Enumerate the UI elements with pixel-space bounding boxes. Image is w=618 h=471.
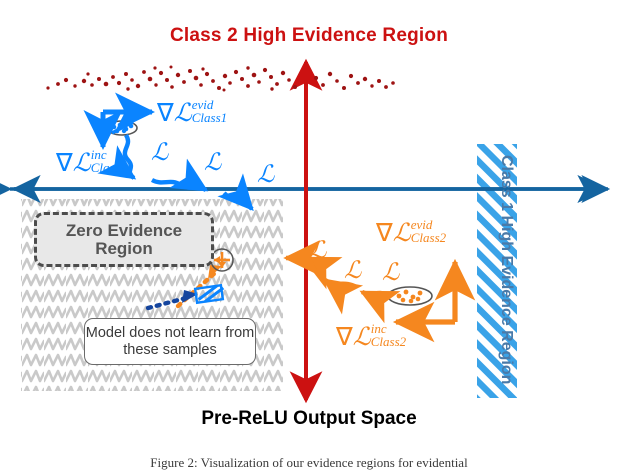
loss-symbol-blue-2: ℒ (204, 148, 221, 177)
loss-symbol-blue-3: ℒ (257, 160, 274, 189)
class2-sample-cloud (46, 66, 394, 92)
label-grad-inc-class1: ∇ℒincClass1 (56, 148, 126, 178)
grad-inc-class1-subsup: incClass1 (91, 148, 126, 174)
title-class2-region: Class 2 High Evidence Region (0, 25, 618, 47)
grad-inc-class2-subsup: incClass2 (371, 322, 406, 348)
label-class1-high-evidence-region: Class 1 High Evidence Region (487, 155, 515, 395)
loss-symbol-orange-1: ℒ (309, 236, 326, 265)
loss-symbol: ℒ (393, 220, 411, 247)
blue-gradient-path (125, 135, 252, 209)
model-does-not-learn-note: Model does not learn from these samples (84, 318, 256, 365)
loss-symbol-blue-1: ℒ (151, 138, 168, 167)
nabla-icon: ∇ (56, 150, 73, 177)
orange-gradient-path (286, 258, 388, 295)
title-prerelu-output-space: Pre-ReLU Output Space (0, 408, 618, 430)
label-grad-inc-class2: ∇ℒincClass2 (336, 322, 406, 352)
orange-sample-group (388, 287, 432, 305)
loss-symbol: ℒ (73, 150, 91, 177)
loss-symbol: ℒ (174, 100, 192, 127)
label-grad-evid-class1: ∇ℒevidClass1 (157, 98, 227, 128)
loss-symbol-orange-3: ℒ (382, 258, 399, 287)
zero-evidence-region-box: Zero Evidence Region (34, 212, 214, 267)
nabla-icon: ∇ (376, 220, 393, 247)
zero-region-sample (211, 249, 233, 271)
blue-sample-group (107, 121, 137, 135)
nabla-icon: ∇ (336, 324, 353, 351)
figure-canvas: Class 2 High Evidence Region Pre-ReLU Ou… (0, 0, 618, 470)
nabla-icon: ∇ (157, 100, 174, 127)
grad-evid-class1-subsup: evidClass1 (192, 98, 227, 124)
loss-symbol-orange-2: ℒ (344, 256, 361, 285)
grad-evid-class2-subsup: evidClass2 (411, 218, 446, 244)
loss-symbol: ℒ (353, 324, 371, 351)
figure-caption: Figure 2: Visualization of our evidence … (0, 455, 618, 471)
label-grad-evid-class2: ∇ℒevidClass2 (376, 218, 446, 248)
